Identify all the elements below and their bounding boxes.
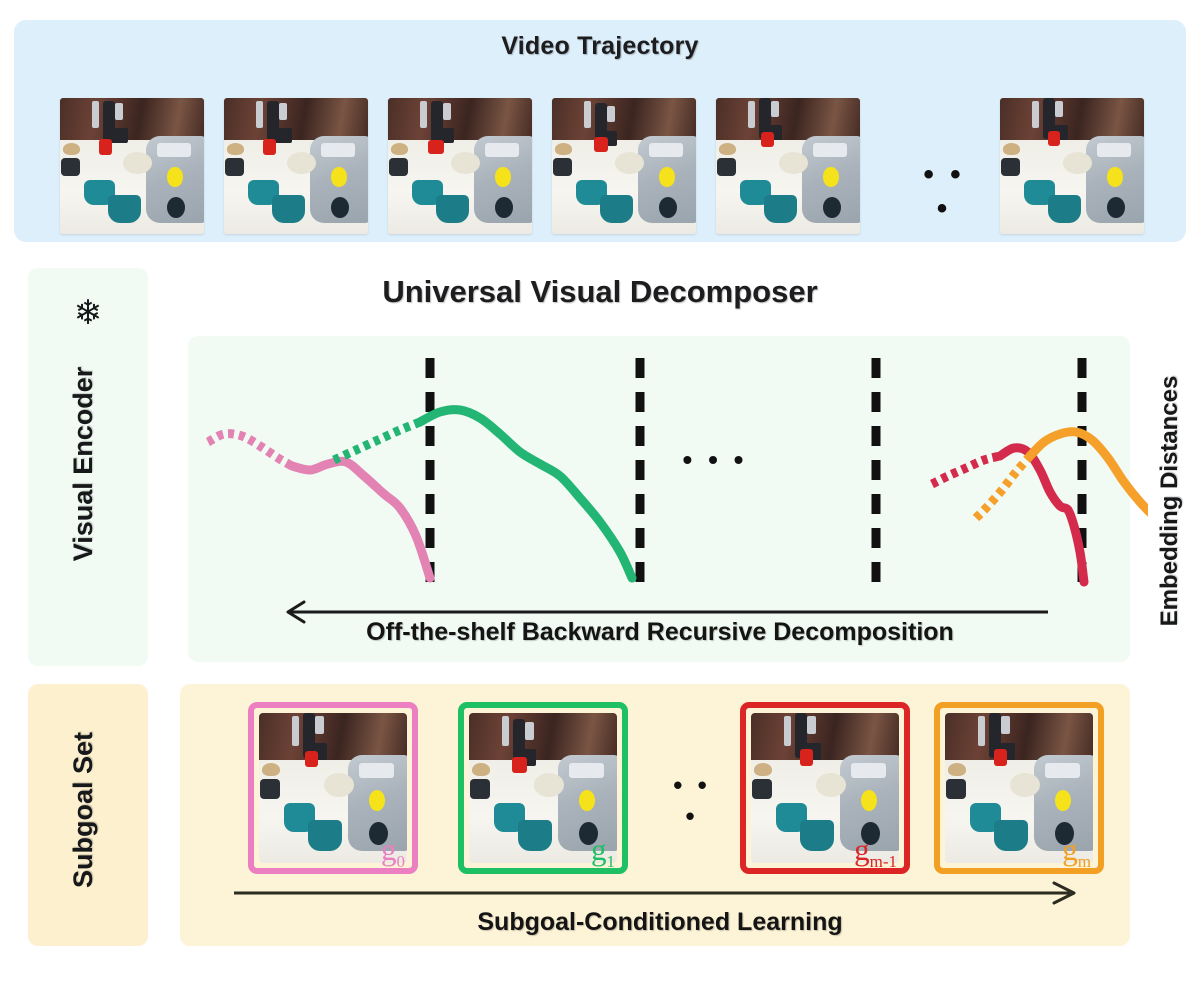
embedding-distance-curves <box>208 410 1148 582</box>
curve-orange-dashed <box>976 456 1030 518</box>
subgoal-set-label: Subgoal Set <box>68 676 108 944</box>
subgoal-gm1-label: gm-1 <box>854 834 897 870</box>
video-frame-5 <box>716 98 860 234</box>
video-trajectory-panel: Video Trajectory <box>14 20 1186 242</box>
subgoal-g1-label: g1 <box>591 834 615 870</box>
subgoal-boundary-dividers <box>430 358 1082 588</box>
subgoal-learning-arrow <box>230 880 1090 906</box>
video-frame-3 <box>388 98 532 234</box>
curve-orange-solid <box>1030 432 1148 582</box>
figure-root: Video Trajectory <box>0 0 1200 982</box>
video-trajectory-title: Video Trajectory <box>14 32 1186 61</box>
decomposition-axis-label: Off-the-shelf Backward Recursive Decompo… <box>250 618 1070 647</box>
subgoal-g1[interactable]: g1 <box>458 702 628 874</box>
curve-red-solid <box>1000 448 1084 582</box>
embedding-distances-label: Embedding Distances <box>1156 331 1190 671</box>
video-frame-2 <box>224 98 368 234</box>
subgoal-gm-label: gm <box>1062 834 1091 870</box>
video-frame-4 <box>552 98 696 234</box>
subgoal-gm1[interactable]: gm-1 <box>740 702 910 874</box>
curve-pink-solid <box>292 461 430 578</box>
curve-red-dashed <box>932 456 1000 484</box>
curve-green-dashed <box>334 422 420 460</box>
video-frame-6 <box>1000 98 1144 234</box>
subgoal-g0[interactable]: g0 <box>248 702 418 874</box>
subgoal-g0-label: g0 <box>381 834 405 870</box>
visual-encoder-sidebar: ❄ Visual Encoder <box>28 268 148 666</box>
curve-pink-dashed <box>208 434 292 466</box>
subgoal-gm[interactable]: gm <box>934 702 1104 874</box>
uvd-title: Universal Visual Decomposer <box>300 274 900 310</box>
video-frame-1 <box>60 98 204 234</box>
subgoal-set-sidebar: Subgoal Set <box>28 684 148 946</box>
curve-green-solid <box>420 410 632 578</box>
visual-encoder-label: Visual Encoder <box>68 278 108 650</box>
subgoal-ellipsis: • • • <box>662 770 722 832</box>
subgoal-learning-label: Subgoal-Conditioned Learning <box>250 908 1070 937</box>
plot-ellipsis: • • • <box>680 444 750 476</box>
video-ellipsis: • • • <box>916 158 972 226</box>
